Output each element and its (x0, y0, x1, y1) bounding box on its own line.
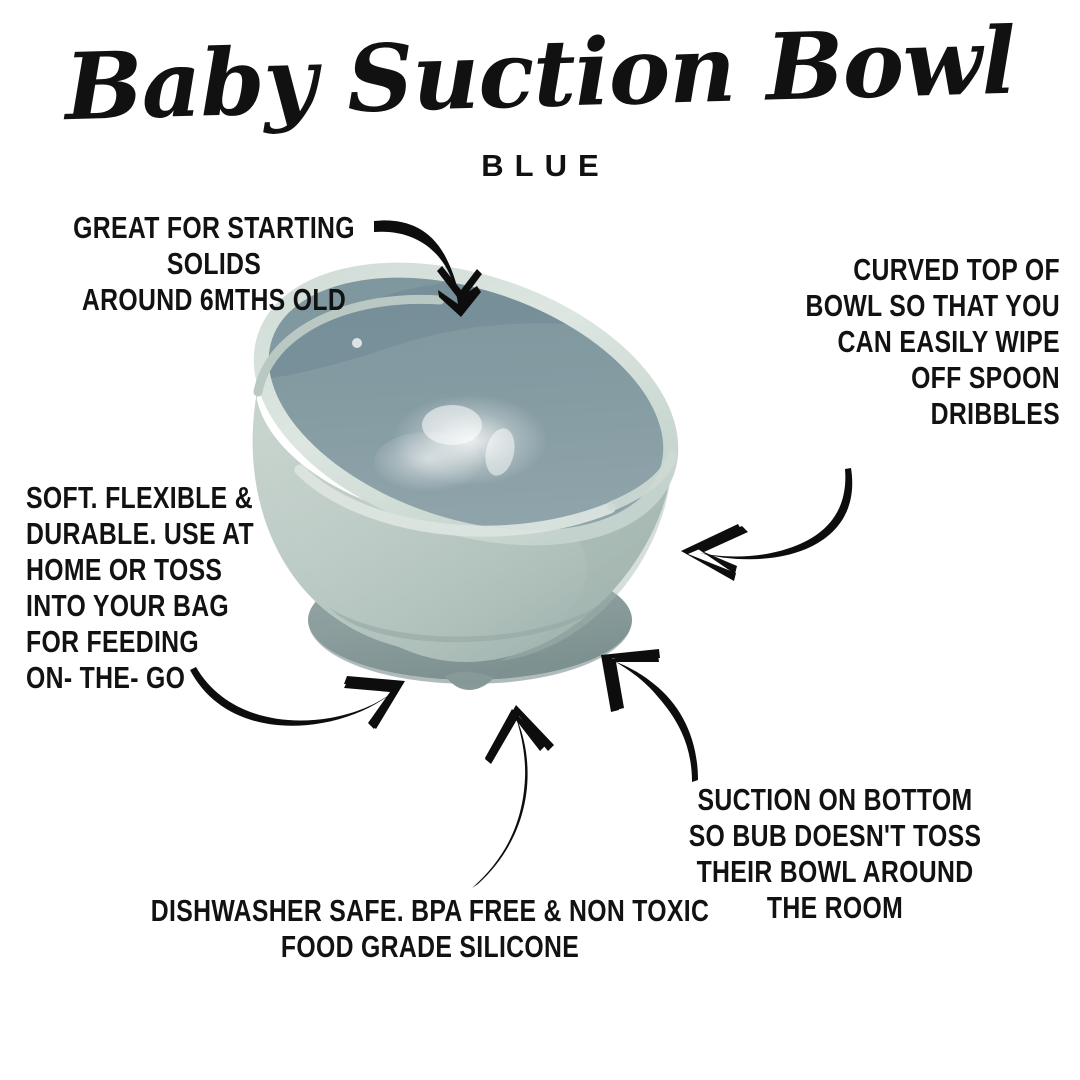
page-subtitle: BLUE (0, 148, 1080, 184)
arrow-dishwasher (472, 705, 554, 888)
page-title: Baby Suction Bowl (0, 13, 1080, 135)
callout-suction-bottom: SUCTION ON BOTTOM SO BUB DOESN'T TOSS TH… (647, 782, 1023, 926)
arrow-suction-bottom (601, 649, 698, 782)
callout-dishwasher-safe: DISHWASHER SAFE. BPA FREE & NON TOXIC FO… (134, 893, 726, 965)
callout-curved-top: CURVED TOP OF BOWL SO THAT YOU CAN EASIL… (660, 252, 1060, 432)
bowl-body (253, 292, 675, 668)
arrow-curved-top (681, 468, 852, 581)
callout-soft-flexible: SOFT. FLEXIBLE & DURABLE. USE AT HOME OR… (26, 480, 290, 696)
infographic-canvas: Baby Suction Bowl BLUE (0, 0, 1080, 1080)
suction-base (308, 560, 632, 690)
callout-starting-solids: GREAT FOR STARTING SOLIDS AROUND 6MTHS O… (26, 210, 402, 318)
